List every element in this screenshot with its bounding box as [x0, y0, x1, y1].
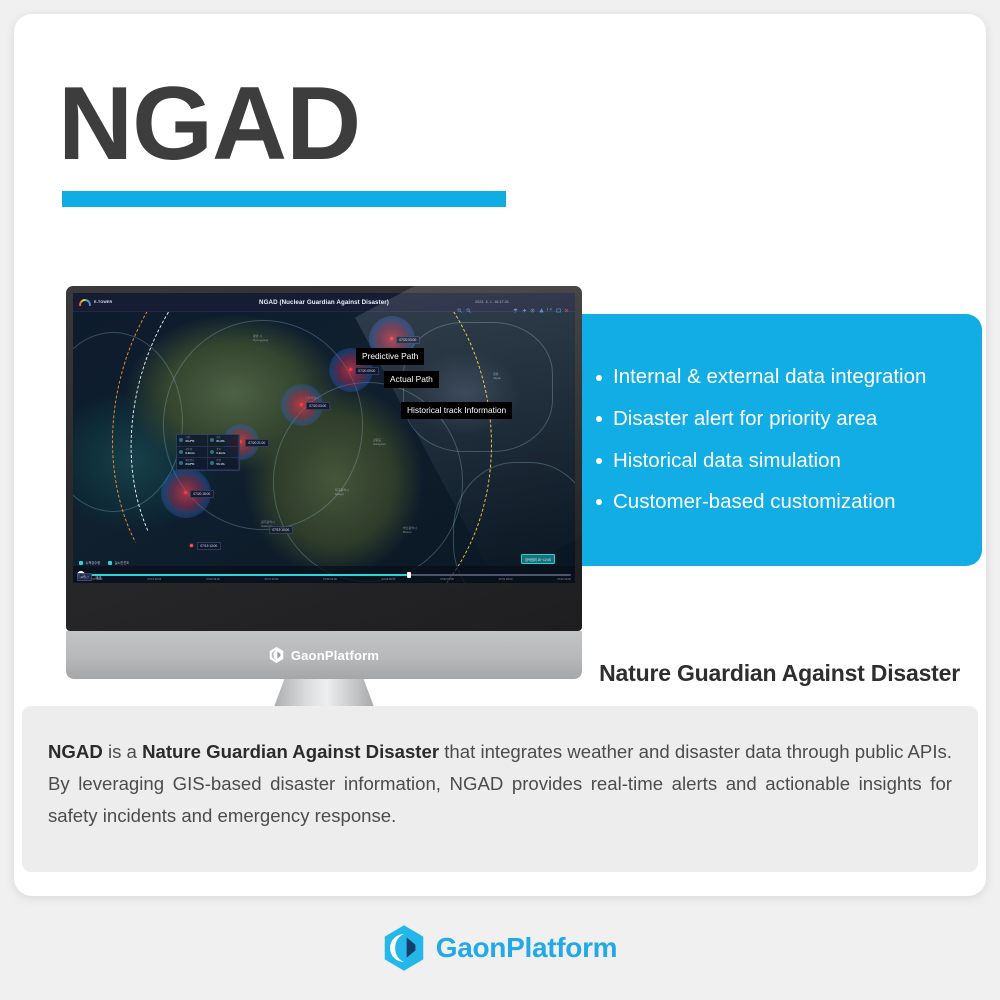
bullet-icon — [596, 458, 602, 464]
timeline-ticks: 07/14 09:00 07/15 09:00 07/16 09:00 07/1… — [89, 578, 571, 581]
footer-brand-label: GaonPlatform — [436, 932, 618, 964]
timeline-tick-label: 07/21 09:00 — [499, 578, 513, 581]
legend-label: 실시간진도 — [115, 560, 130, 565]
window-icon[interactable] — [556, 300, 561, 305]
coastline-outline — [453, 462, 575, 583]
dashboard-screen: E-TOWER NGAD (Nuclear Guardian Against D… — [73, 293, 575, 583]
callout-historical-track: Historical track Information — [401, 402, 512, 419]
description-bold-lead: NGAD — [48, 741, 103, 762]
umbrella-icon[interactable] — [513, 300, 518, 305]
timeline-tick-label: 07/15 09:00 — [148, 578, 162, 581]
info-cell: 해수온도24.6℃ — [177, 458, 208, 470]
list-item: Disaster alert for priority area — [596, 407, 964, 432]
feature-label: Internal & external data integration — [613, 365, 926, 390]
map-place-label: 대구광역시Daegu — [335, 488, 349, 496]
dashboard-header: E-TOWER NGAD (Nuclear Guardian Against D… — [73, 293, 575, 312]
cloud-icon — [210, 461, 214, 465]
callout-actual-path: Actual Path — [384, 371, 439, 388]
info-value: 61.2% — [216, 440, 224, 443]
storm-time-tag: 07/19 13:00 — [197, 542, 221, 550]
timeline-tick-label: 07/18 09:00 — [323, 578, 337, 581]
timeline-playhead[interactable] — [407, 572, 411, 578]
timeline-range-badge: 검색범위 20~12:00 — [521, 554, 555, 564]
gaon-hex-icon — [383, 925, 425, 971]
info-value: 53.1% — [216, 463, 224, 466]
map-place-label: 강원도Gangwon — [373, 438, 386, 446]
timeline-tick-label: 07/16 09:00 — [206, 578, 220, 581]
timeline-tick-label: 07/22 09:00 — [557, 578, 571, 581]
close-icon[interactable] — [564, 300, 569, 305]
range-select-value[interactable]: 14일간 — [77, 573, 92, 581]
feature-label: Disaster alert for priority area — [613, 407, 877, 432]
map-place-label: 평양 시Pyongyang — [253, 334, 268, 342]
timeline-range-select[interactable]: 14일간 재생 — [77, 573, 101, 581]
legend-item[interactable]: 실시간진도 — [108, 560, 129, 565]
hero-title-block: NGAD — [58, 70, 506, 207]
info-cell: 강수량0.0mm — [177, 447, 208, 459]
list-item: Historical data simulation — [596, 449, 964, 474]
map-place-label: 부산광역시Busan — [403, 526, 417, 534]
legend-swatch-icon — [79, 561, 83, 565]
refresh-icon[interactable] — [547, 300, 552, 305]
dashboard-header-right: 2023. 6. 1. 16:47:31 — [457, 300, 569, 305]
storm-time-tag: 07/20 15:00 — [190, 490, 214, 498]
range-select-label: 재생 — [95, 575, 101, 580]
monitor-chin: GaonPlatform — [66, 631, 582, 679]
description-bold-2: Nature Guardian Against Disaster — [142, 741, 439, 762]
sea-temperature-icon — [179, 461, 183, 465]
gaon-hex-icon — [269, 647, 284, 663]
info-cell: 습도61.2% — [208, 435, 239, 447]
warning-icon[interactable] — [539, 300, 544, 305]
legend-label: 누적강수량 — [86, 560, 101, 565]
info-cell: 기온23.4℃ — [177, 435, 208, 447]
legend-item[interactable]: 누적강수량 — [79, 560, 100, 565]
feature-list-panel: Internal & external data integration Dis… — [574, 314, 982, 566]
description-seg-1: is a — [103, 741, 142, 762]
list-item: Customer-based customization — [596, 490, 964, 515]
monitor-brand-label: GaonPlatform — [291, 648, 379, 663]
feature-label: Historical data simulation — [613, 449, 841, 474]
timeline-tick-label: 07/20 09:00 — [440, 578, 454, 581]
bullet-icon — [596, 416, 602, 422]
storm-time-tag: 07/19 10:00 — [269, 526, 293, 534]
info-cell: 운량53.1% — [208, 458, 239, 470]
rainfall-icon — [179, 450, 183, 454]
search-plus-icon[interactable] — [466, 300, 471, 305]
title-underline-bar — [62, 191, 506, 207]
humidity-icon — [210, 438, 214, 442]
feature-label: Customer-based customization — [613, 490, 896, 515]
monitor-bezel: E-TOWER NGAD (Nuclear Guardian Against D… — [66, 286, 582, 631]
search-icon[interactable] — [457, 300, 462, 305]
page-subtitle: Nature Guardian Against Disaster — [599, 660, 960, 687]
map-place-label: 일본Japan — [493, 372, 501, 380]
info-cell: 풍속5.2m/s — [208, 447, 239, 459]
list-item: Internal & external data integration — [596, 365, 964, 390]
footer-logo: GaonPlatform — [0, 925, 1000, 971]
info-value: 0.0mm — [185, 452, 194, 455]
map-legend: 누적강수량 실시간진도 — [79, 560, 129, 565]
legend-swatch-icon — [108, 561, 112, 565]
timeline-slider[interactable] — [89, 574, 571, 576]
dashboard-tool-icons — [513, 300, 569, 305]
gear-icon[interactable] — [530, 300, 535, 305]
compass-icon[interactable] — [522, 300, 527, 305]
timeline-progress-fill — [89, 574, 407, 576]
timeline-bar[interactable]: 07/14 09:00 07/15 09:00 07/16 09:00 07/1… — [73, 566, 575, 583]
poster-page: NGAD Internal & external data integratio… — [0, 0, 1000, 1000]
storm-time-tag: 07/20 03:00 — [306, 402, 330, 410]
storm-center-dot — [190, 544, 193, 547]
page-title: NGAD — [58, 70, 506, 179]
temperature-icon — [179, 438, 183, 442]
dashboard-timestamp: 2023. 6. 1. 16:47:31 — [475, 300, 509, 304]
callout-predictive-path: Predictive Path — [356, 348, 424, 365]
description-box: NGAD is a Nature Guardian Against Disast… — [22, 706, 978, 872]
weather-info-panel: 기온23.4℃ 습도61.2% 강수량0.0mm — [176, 434, 240, 471]
timeline-tick-label: 07/19 09:00 — [382, 578, 396, 581]
info-value: 23.4℃ — [185, 440, 194, 443]
storm-time-tag: 07/20 09:00 — [355, 367, 379, 375]
storm-time-tag: 07/20 03:00 — [396, 336, 420, 344]
bullet-icon — [596, 499, 602, 505]
monitor-mockup: E-TOWER NGAD (Nuclear Guardian Against D… — [66, 286, 582, 756]
timeline-tick-label: 07/17 09:00 — [265, 578, 279, 581]
description-paragraph: NGAD is a Nature Guardian Against Disast… — [48, 736, 952, 832]
bullet-icon — [596, 375, 602, 381]
content-card: NGAD Internal & external data integratio… — [14, 14, 986, 896]
gis-map[interactable]: 평양 시Pyongyang 서울특별시Seoul 강원도Gangwon 대구광역… — [73, 312, 575, 583]
info-value: 5.2m/s — [216, 452, 225, 455]
storm-time-tag: 07/20 21:00 — [245, 439, 269, 447]
wind-icon — [210, 450, 214, 454]
info-value: 24.6℃ — [185, 463, 194, 466]
